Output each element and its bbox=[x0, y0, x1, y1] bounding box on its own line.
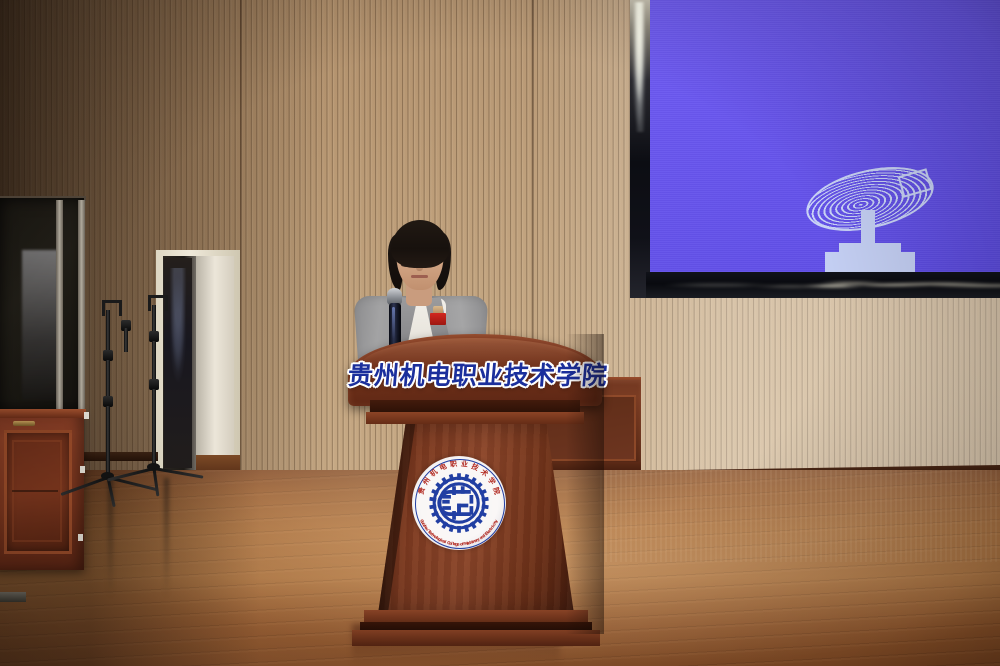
cabinet-handle[interactable] bbox=[13, 421, 35, 426]
window-frame-edge bbox=[78, 200, 85, 412]
window-mullion bbox=[56, 200, 63, 412]
window-pane-reflection bbox=[22, 250, 58, 400]
photo-scene: 贵州机电职业技术学院 贵州机电职业技术学院 Guizhou T bbox=[0, 0, 1000, 666]
lapel-badge bbox=[430, 306, 446, 326]
baseboard-left bbox=[84, 452, 158, 461]
floor-vent-grille bbox=[0, 592, 26, 602]
mic-clip-icon bbox=[148, 295, 168, 311]
mouth bbox=[411, 275, 428, 278]
radio-telescope-icon bbox=[795, 166, 945, 272]
emblem-english-arc-text: Guizhou Technological College of Machine… bbox=[412, 456, 506, 550]
cabinet-label-tag bbox=[80, 466, 85, 473]
cabinet-label-tag bbox=[78, 534, 83, 541]
doorway-ornament bbox=[168, 268, 188, 388]
college-emblem: 贵州机电职业技术学院 Guizhou Technological College… bbox=[412, 456, 506, 550]
podium-banner-text: 贵州机电职业技术学院 bbox=[346, 356, 603, 392]
cabinet-panel-split bbox=[12, 490, 58, 492]
dish-plinth-lower bbox=[825, 252, 915, 272]
projection-screen bbox=[630, 0, 1000, 298]
door-leaf[interactable] bbox=[196, 256, 234, 472]
cabinet-label-tag bbox=[84, 412, 89, 419]
screen-bezel-bottom bbox=[646, 272, 1000, 298]
badge-ribbon bbox=[430, 313, 446, 325]
mic-clip-icon bbox=[102, 300, 122, 316]
floor-stand-reflection bbox=[164, 478, 169, 598]
hair-top bbox=[391, 220, 449, 268]
podium-base-lower bbox=[352, 630, 600, 646]
bezel-bottom-reflections bbox=[646, 274, 1000, 294]
bezel-left-reflections bbox=[632, 2, 647, 132]
podium-shelf bbox=[366, 412, 584, 424]
cabinet-top bbox=[0, 409, 86, 418]
speaking-podium: 贵州机电职业技术学院 贵州机电职业技术学院 Guizhou T bbox=[330, 334, 620, 644]
wall-seam bbox=[240, 0, 242, 500]
